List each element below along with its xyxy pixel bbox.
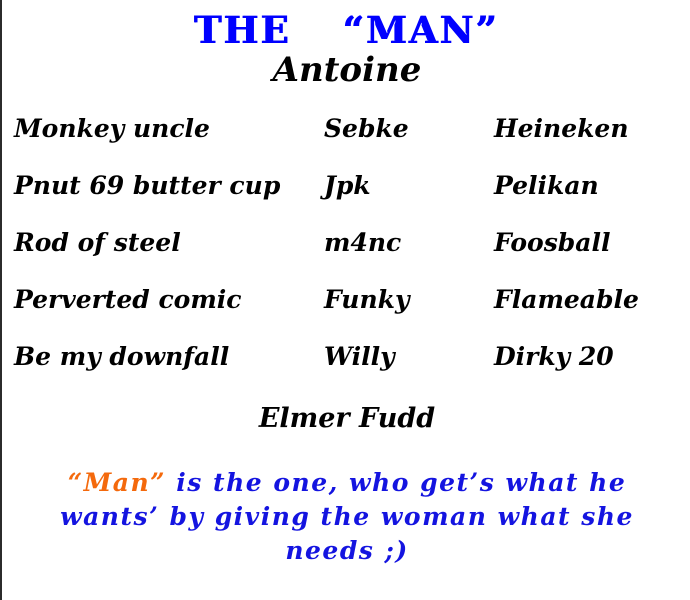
quote-line-3: needs ;)	[37, 534, 657, 568]
poster-subtitle: Antoine	[2, 50, 690, 90]
nickname-table: Monkey uncle Sebke Heineken Pnut 69 butt…	[2, 100, 690, 385]
table-cell-handle: m4nc	[324, 214, 494, 271]
title-word-the: THE	[195, 8, 292, 52]
table-cell-nickname: Pelikan	[494, 157, 690, 214]
poster-title: THE“MAN”	[2, 8, 690, 52]
quote-line-2: wants’ by giving the woman what she	[37, 500, 657, 534]
table-cell-nickname: Dirky 20	[494, 328, 690, 385]
table-cell-phrase: Pnut 69 butter cup	[2, 157, 324, 214]
table-row: Monkey uncle Sebke Heineken	[2, 100, 690, 157]
table-cell-nickname: Foosball	[494, 214, 690, 271]
footer-name: Elmer Fudd	[2, 403, 690, 434]
closing-quote: “Man” is the one, who get’s what he want…	[37, 466, 657, 568]
table-row: Be my downfall Willy Dirky 20	[2, 328, 690, 385]
table-row: Perverted comic Funky Flameable	[2, 271, 690, 328]
table-cell-handle: Funky	[324, 271, 494, 328]
title-word-man: “MAN”	[343, 8, 499, 52]
table-cell-nickname: Flameable	[494, 271, 690, 328]
poster-canvas: THE“MAN” Antoine Monkey uncle Sebke Hein…	[0, 0, 690, 600]
table-cell-handle: Willy	[324, 328, 494, 385]
table-cell-nickname: Heineken	[494, 100, 690, 157]
table-cell-phrase: Rod of steel	[2, 214, 324, 271]
quote-line-1: “Man” is the one, who get’s what he	[37, 466, 657, 500]
table-cell-handle: Sebke	[324, 100, 494, 157]
table-cell-phrase: Perverted comic	[2, 271, 324, 328]
table-cell-handle: Jpk	[324, 157, 494, 214]
table-row: Rod of steel m4nc Foosball	[2, 214, 690, 271]
quote-highlight: “Man”	[68, 468, 166, 497]
table-cell-phrase: Monkey uncle	[2, 100, 324, 157]
quote-line-1-rest: is the one, who get’s what he	[166, 468, 626, 497]
table-cell-phrase: Be my downfall	[2, 328, 324, 385]
table-row: Pnut 69 butter cup Jpk Pelikan	[2, 157, 690, 214]
